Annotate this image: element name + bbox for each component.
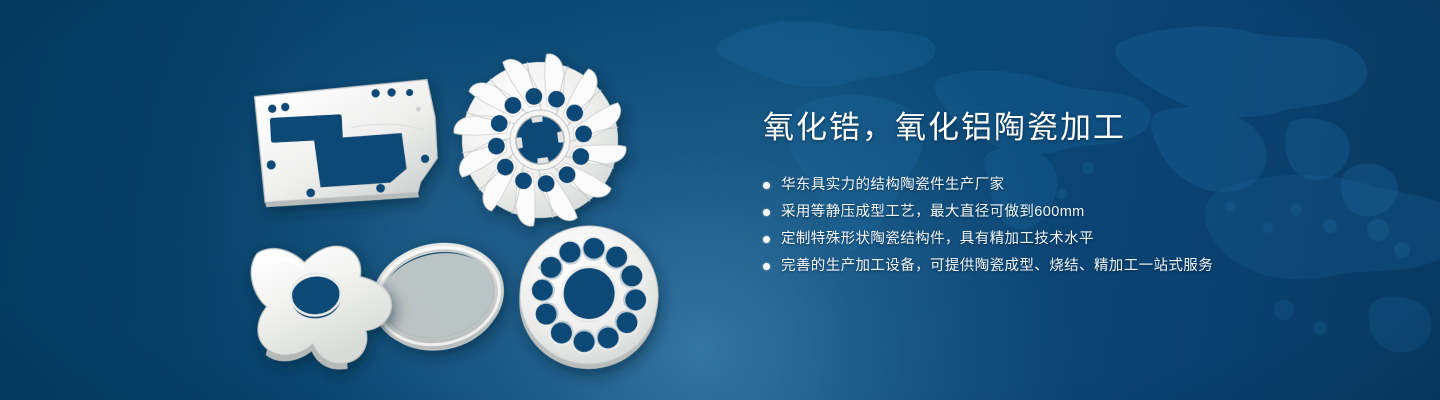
bullet-dot-icon bbox=[763, 182, 770, 189]
bullet-dot-icon bbox=[763, 236, 770, 243]
banner-copy: 氧化锆，氧化铝陶瓷加工 华东具实力的结构陶瓷件生产厂家 采用等静压成型工艺，最大… bbox=[763, 108, 1383, 282]
ceramic-parts-photo bbox=[0, 0, 720, 400]
promo-banner: 氧化锆，氧化铝陶瓷加工 华东具实力的结构陶瓷件生产厂家 采用等静压成型工艺，最大… bbox=[0, 0, 1440, 400]
feature-text: 华东具实力的结构陶瓷件生产厂家 bbox=[781, 174, 1005, 197]
feature-text: 完善的生产加工设备，可提供陶瓷成型、烧结、精加工一站式服务 bbox=[781, 255, 1213, 278]
ceramic-perforated-disc bbox=[513, 219, 665, 376]
feature-text: 定制特殊形状陶瓷结构件，具有精加工技术水平 bbox=[781, 228, 1094, 251]
list-item: 定制特殊形状陶瓷结构件，具有精加工技术水平 bbox=[763, 228, 1383, 251]
list-item: 采用等静压成型工艺，最大直径可做到600mm bbox=[763, 201, 1383, 224]
feature-list: 华东具实力的结构陶瓷件生产厂家 采用等静压成型工艺，最大直径可做到600mm 定… bbox=[763, 174, 1383, 278]
list-item: 华东具实力的结构陶瓷件生产厂家 bbox=[763, 174, 1383, 197]
list-item: 完善的生产加工设备，可提供陶瓷成型、烧结、精加工一站式服务 bbox=[763, 255, 1383, 278]
ceramic-cross-plate bbox=[249, 237, 398, 378]
ceramic-plate bbox=[254, 79, 439, 207]
ceramic-impeller bbox=[443, 43, 637, 237]
feature-text: 采用等静压成型工艺，最大直径可做到600mm bbox=[781, 201, 1085, 224]
bullet-dot-icon bbox=[763, 263, 770, 270]
bullet-dot-icon bbox=[763, 209, 770, 216]
page-title: 氧化锆，氧化铝陶瓷加工 bbox=[763, 108, 1383, 148]
